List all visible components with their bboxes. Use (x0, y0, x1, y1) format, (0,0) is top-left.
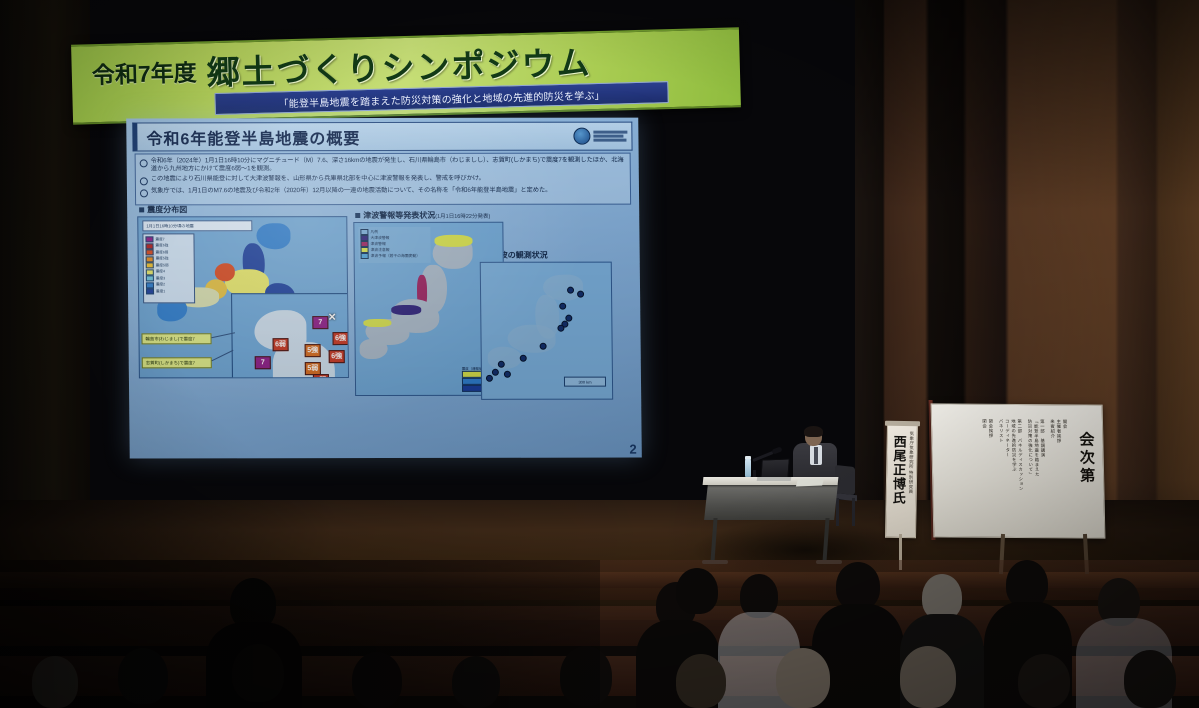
legend-label: 震度4 (156, 269, 165, 274)
audience-head (836, 562, 880, 610)
banner-top-rail (885, 421, 920, 427)
presenter-table-front (704, 484, 838, 520)
legend-swatch (146, 262, 154, 268)
map-heading-warning: 津波警報等発表状況(1月1日16時22分発表) (355, 210, 490, 221)
legend-row: 震度4 (146, 269, 192, 275)
legend-row: 震度6強 (146, 243, 192, 249)
presenter-tie (814, 447, 818, 464)
audience-head-gray (900, 646, 956, 708)
audience-head (1124, 650, 1176, 708)
observation-station-dot (559, 303, 566, 310)
laptop-base (757, 477, 792, 481)
square-bullet-icon (139, 207, 144, 212)
speaker-affiliation: 気象庁気象研究所 特別研究員 (908, 431, 915, 494)
legend-label: 震度5弱 (156, 263, 169, 268)
legend-title: 凡例 (370, 230, 378, 235)
map-tsunami-observation: 300 km (480, 262, 613, 400)
observation-station-dot (540, 343, 547, 350)
program-columns: 開会 主催者挨拶 来賓紹介 第一部 基調講演 「能登半島地震を踏まえた 防災対策… (942, 418, 1070, 527)
audience-head-gray (32, 656, 78, 708)
callout-text: 志賀町(しかまち)で震度7 (146, 360, 195, 366)
map-caption: 1月1日16時10分頃の地震 (142, 220, 252, 231)
legend-label: 大津波警報 (370, 235, 389, 240)
slide-bullet: この地震により石川県能登に対して大津波警報を、山形県から兵庫県北部を中心に津波警… (140, 175, 626, 186)
square-bullet-icon (355, 213, 360, 218)
observation-station-dot (486, 375, 493, 382)
map-heading-intensity: 震度分布図 (139, 204, 187, 215)
bullet-text: 令和6年（2024年）1月1日16時10分にマグニチュード（M）7.6、深さ16… (151, 157, 626, 174)
jma-logo (573, 126, 627, 146)
jma-circle-icon (573, 127, 590, 144)
observation-station-dot (498, 361, 505, 368)
audience-area (0, 560, 1199, 708)
intensity-chip: 7 (312, 316, 328, 329)
observation-station-dot (577, 291, 584, 298)
legend-row: 震度2 (146, 282, 192, 288)
coast-major-warning-noto (391, 305, 421, 315)
legend-label: 震度7 (155, 237, 164, 242)
speaker-name-banner: 気象庁気象研究所 特別研究員 西尾正博氏 (885, 424, 918, 539)
legend-label: 津波予報（若干の海面変動） (371, 253, 420, 258)
intensity-legend: 震度7 震度6強 震度6弱 震度5強 震度5弱 震度4 震度3 震度2 震度1 (142, 233, 195, 303)
legend-swatch (146, 282, 154, 288)
intensity-chip: 6強 (332, 332, 348, 345)
legend-label: 震度6弱 (156, 250, 169, 255)
observation-station-dot (557, 325, 564, 332)
legend-label: 震度2 (156, 282, 165, 287)
audience-head (118, 648, 168, 704)
coast-advisory-west (363, 319, 391, 327)
legend-swatch (146, 243, 154, 249)
program-column: 第二部 パネルディスカッション 地域の先進的防災を学ぶ コーディネーター パネリ… (998, 419, 1025, 527)
kyushu-shape (488, 347, 522, 369)
jma-logo-text (593, 130, 627, 141)
bullet-text: この地震により石川県能登に対して大津波警報を、山形県から兵庫県北部を中心に津波警… (151, 175, 485, 184)
observation-station-dot (504, 371, 511, 378)
projected-slide: 令和6年能登半島地震の概要 令和6年（2024年）1月1日16時10分にマグニチ… (126, 118, 642, 459)
map-heading-text: 震度分布図 (147, 205, 187, 214)
legend-swatch (145, 236, 153, 242)
callout-tag: 輪島市(わじまし)で震度7 (141, 333, 211, 344)
program-board: 会次第 開会 主催者挨拶 来賓紹介 第一部 基調講演 「能登半島地震を踏まえた … (931, 403, 1106, 538)
audience-head (676, 568, 718, 614)
observation-station-dot (567, 287, 574, 294)
kyushu-shape (360, 339, 388, 359)
intensity-chip: 6強 (329, 350, 345, 363)
intensity-chip: 5強 (305, 344, 321, 357)
noto-inset-map: × 7 6強 6弱 5強 6強 7 5弱 6弱 6強 5強 5弱 5弱 (231, 293, 349, 378)
audience-head (232, 644, 284, 702)
slide-title: 令和6年能登半島地震の概要 (146, 125, 360, 149)
legend-label: 震度6強 (156, 243, 169, 248)
banner-era-label: 令和7年度 (91, 53, 197, 90)
legend-swatch (146, 288, 154, 294)
audience-head (676, 654, 726, 708)
legend-swatch (146, 249, 154, 255)
epicenter-marker-icon: × (328, 310, 336, 323)
map-intensity-distribution: 1月1日16時10分頃の地震 震度7 震度6強 震度6弱 震度5強 震度5弱 震… (137, 216, 349, 378)
callout-leader-line (212, 350, 234, 361)
bullet-circle-icon (140, 159, 148, 167)
intensity-chip: 7 (255, 356, 271, 369)
intensity-chip: 6弱 (273, 338, 289, 351)
audience-head (1018, 654, 1070, 708)
legend-label: 津波注意報 (371, 247, 390, 252)
legend-swatch (361, 253, 369, 260)
audience-head (1006, 560, 1048, 608)
presenter-hair (804, 426, 823, 437)
legend-swatch (146, 275, 154, 281)
presenter-papers (796, 479, 824, 487)
audience-head-gray (776, 648, 830, 708)
legend-row: 震度7 (145, 236, 191, 242)
map-heading-text: 津波警報等発表状況 (363, 211, 435, 220)
program-column: 閉会挨拶 閉会 (981, 419, 996, 527)
legend-row: 震度6弱 (146, 249, 192, 255)
speaker-name: 西尾正博氏 (888, 435, 906, 505)
audience-head (352, 652, 402, 708)
legend-swatch (146, 256, 154, 262)
water-bottle (745, 459, 751, 477)
observation-station-dot (492, 369, 499, 376)
legend-row: 震度1 (146, 288, 192, 294)
legend-label: 震度3 (156, 276, 165, 281)
legend-label: 震度5強 (156, 256, 169, 261)
audience-head (452, 656, 500, 708)
warning-legend: 凡例 大津波警報 津波警報 津波注意報 津波予報（若干の海面変動） (358, 227, 430, 263)
legend-label: 津波警報 (371, 241, 386, 246)
banner-subtitle-text: 「能登半島地震を踏まえた防災対策の強化と地域の先進的防災を学ぶ」 (278, 86, 605, 110)
legend-swatch (146, 269, 154, 275)
callout-tag: 志賀町(しかまち)で震度7 (142, 357, 212, 368)
legend-row: 震度5強 (146, 256, 192, 262)
legend-row: 震度5弱 (146, 262, 192, 268)
bullet-text: 気象庁では、1月1日のM7.6の地震及び令和2年（2020年）12月以降の一連の… (151, 187, 551, 196)
callout-text: 輪島市(わじまし)で震度7 (145, 336, 194, 342)
legend-row: 津波予報（若干の海面変動） (361, 253, 429, 259)
coast-advisory-hokkaido (434, 235, 472, 247)
bullet-circle-icon (140, 190, 148, 198)
chair-leg (836, 498, 839, 526)
slide-title-bar: 令和6年能登半島地震の概要 (132, 122, 632, 152)
observation-scale-bar: 300 km (564, 377, 606, 387)
slide-bullet: 気象庁では、1月1日のM7.6の地震及び令和2年（2020年）12月以降の一連の… (140, 187, 626, 198)
observation-station-dot (520, 355, 527, 362)
intensity-chip: 6弱 (313, 374, 329, 378)
legend-label: 震度1 (156, 289, 165, 294)
program-title: 会次第 (1078, 431, 1094, 485)
audience-head (560, 646, 612, 706)
map-heading-note: (1月1日16時22分発表) (435, 214, 490, 220)
program-column: 開会 主催者挨拶 来賓紹介 (1049, 419, 1070, 527)
hokkaido-shape (256, 223, 290, 249)
bullet-circle-icon (140, 178, 148, 186)
slide-bullet-box: 令和6年（2024年）1月1日16時10分にマグニチュード（M）7.6、深さ16… (135, 153, 632, 206)
legend-row: 震度3 (146, 275, 192, 281)
slide-bullet: 令和6年（2024年）1月1日16時10分にマグニチュード（M）7.6、深さ16… (140, 157, 626, 174)
program-column: 第一部 基調講演 「能登半島地震を踏まえた 防災対策の強化について」 (1027, 419, 1048, 527)
chair-leg (852, 498, 855, 526)
lecture-hall-scene: 令和7年度 郷土づくりシンポジウム 「能登半島地震を踏まえた防災対策の強化と地域… (0, 0, 1199, 708)
slide-page-number: 2 (629, 442, 636, 457)
